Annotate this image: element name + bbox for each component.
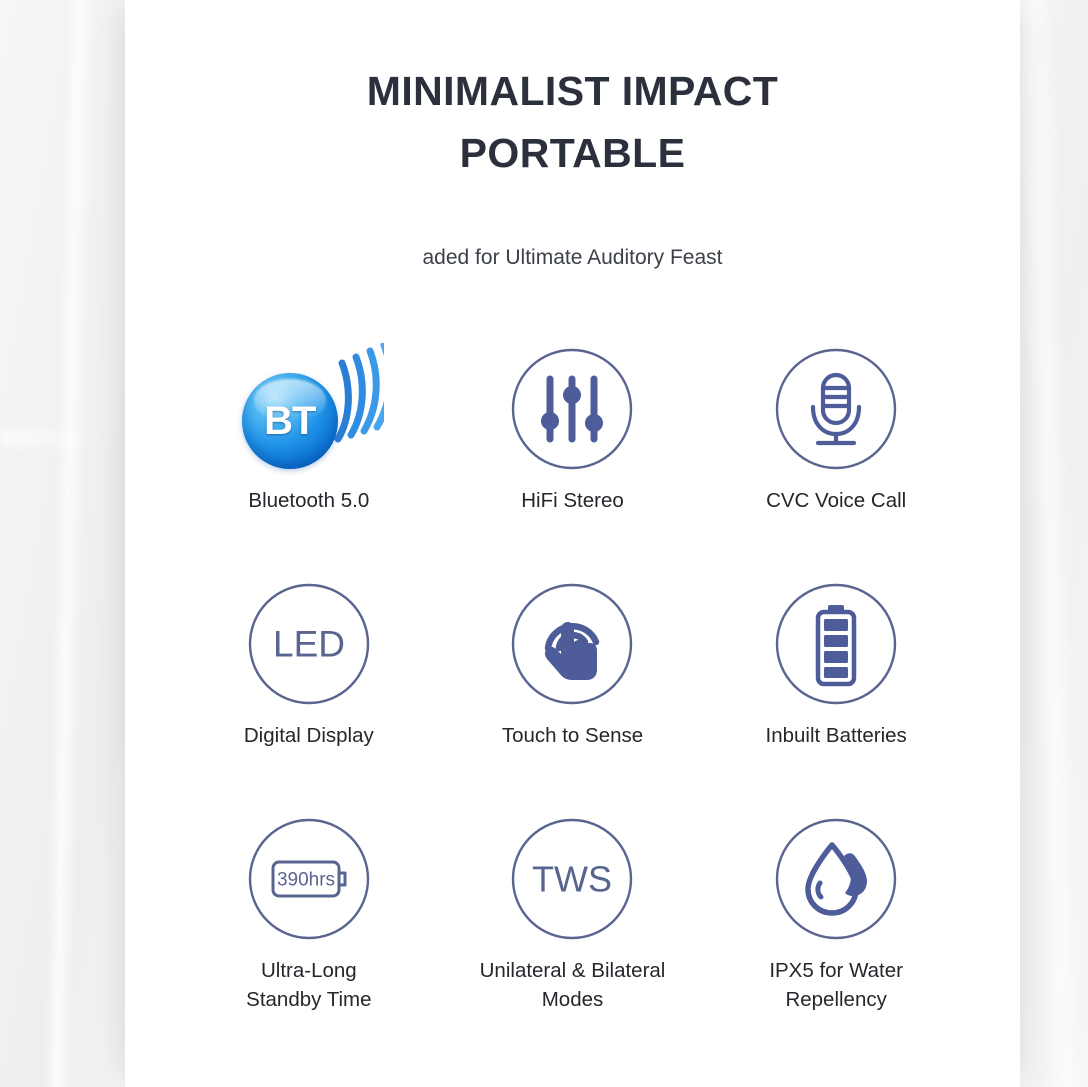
battery-vertical-icon [774, 569, 898, 719]
feature-item-hifi-stereo[interactable]: HiFi Stereo [441, 334, 705, 569]
feature-label: Bluetooth 5.0 [248, 486, 369, 515]
feature-item-inbuilt-batteries[interactable]: Inbuilt Batteries [704, 569, 968, 804]
touch-hand-icon [510, 569, 634, 719]
feature-label: Ultra-Long Standby Time [246, 956, 371, 1014]
battery-hours-label: 390hrs [277, 870, 335, 891]
feature-label: Inbuilt Batteries [766, 721, 907, 750]
feature-label: Unilateral & Bilateral Modes [480, 956, 666, 1014]
feature-label: Digital Display [244, 721, 374, 750]
water-drop-icon [774, 804, 898, 954]
feature-label: CVC Voice Call [766, 486, 906, 515]
bluetooth-sphere-icon: BT [234, 334, 384, 484]
feature-item-water-repellency[interactable]: IPX5 for Water Repellency [704, 804, 968, 1039]
feature-item-tws-modes[interactable]: TWS Unilateral & Bilateral Modes [441, 804, 705, 1039]
led-icon-label: LED [273, 624, 345, 665]
bluetooth-sphere-label: BT [242, 373, 338, 469]
microphone-icon [774, 334, 898, 484]
feature-item-touch-to-sense[interactable]: Touch to Sense [441, 569, 705, 804]
feature-grid: BT Bluetooth 5.0 [125, 272, 1020, 1039]
feature-item-bluetooth[interactable]: BT Bluetooth 5.0 [177, 334, 441, 569]
page-root: MINIMALIST IMPACT PORTABLE aded for Ulti… [0, 0, 1088, 1087]
equalizer-sliders-icon [510, 334, 634, 484]
tws-icon-label: TWS [532, 859, 612, 900]
battery-hours-icon: 390hrs [247, 804, 371, 954]
water-drop-highlight [818, 883, 821, 897]
feature-item-cvc-voice-call[interactable]: CVC Voice Call [704, 334, 968, 569]
feature-label: HiFi Stereo [521, 486, 624, 515]
product-feature-card: MINIMALIST IMPACT PORTABLE aded for Ulti… [125, 0, 1020, 1087]
tws-text-icon: TWS [510, 804, 634, 954]
background-vein-accent [0, 430, 120, 446]
page-subtitle: aded for Ultimate Auditory Feast [125, 185, 1020, 272]
led-text-icon: LED [247, 569, 371, 719]
feature-item-digital-display[interactable]: LED Digital Display [177, 569, 441, 804]
feature-label: IPX5 for Water Repellency [769, 956, 903, 1014]
page-title: MINIMALIST IMPACT PORTABLE [125, 0, 1020, 185]
feature-label: Touch to Sense [502, 721, 643, 750]
feature-item-standby-time[interactable]: 390hrs Ultra-Long Standby Time [177, 804, 441, 1039]
